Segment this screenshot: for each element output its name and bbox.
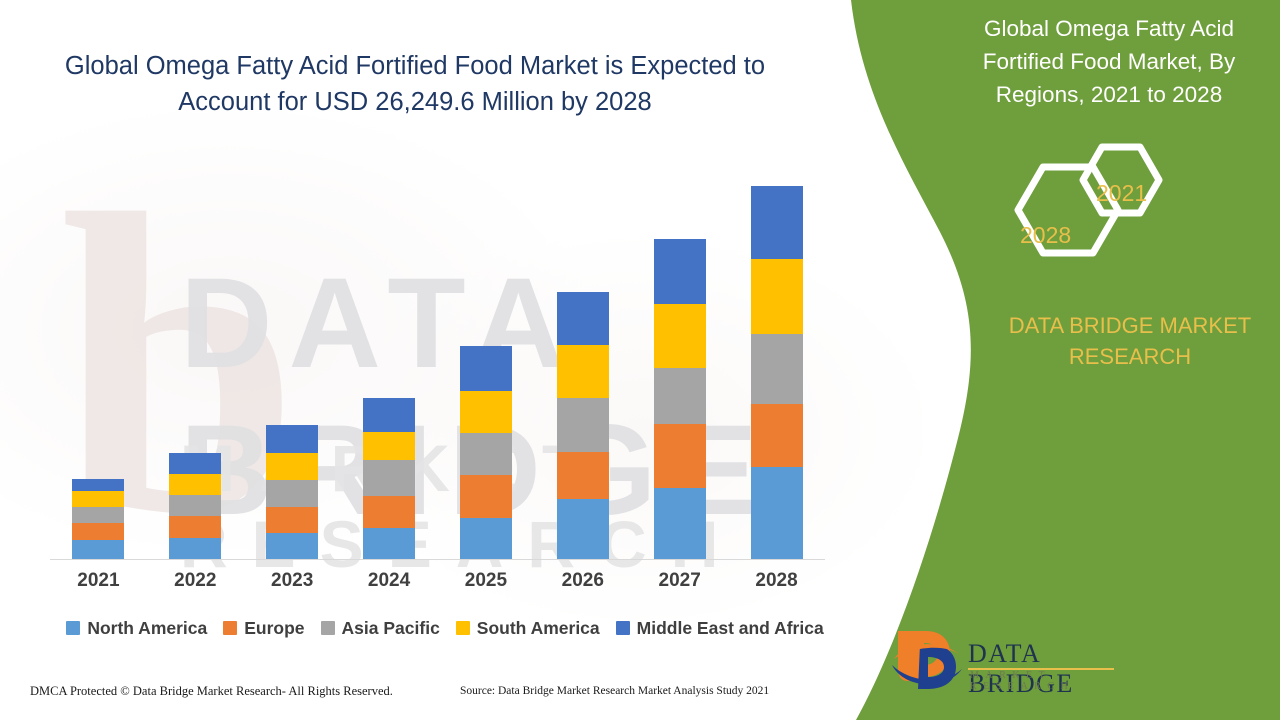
- bar-segment: [72, 479, 124, 491]
- bar-segment: [654, 239, 706, 304]
- bar-segment: [266, 533, 318, 559]
- panel-title: Global Omega Fatty Acid Fortified Food M…: [954, 12, 1264, 111]
- bar-segment: [363, 528, 415, 559]
- x-axis-label-2028: 2028: [729, 570, 825, 592]
- bar-segment: [266, 453, 318, 480]
- bar-2023: [266, 425, 318, 559]
- legend-item-asia-pacific[interactable]: Asia Pacific: [321, 618, 440, 639]
- x-axis-label-2027: 2027: [632, 570, 728, 592]
- legend-swatch-icon: [321, 621, 335, 635]
- bar-segment: [169, 474, 221, 495]
- source-note: Source: Data Bridge Market Research Mark…: [460, 685, 769, 697]
- logo-tagline: MARKET RESEARCH: [970, 670, 1140, 692]
- bar-segment: [751, 404, 803, 467]
- bar-segment: [266, 480, 318, 507]
- legend-item-middle-east-and-africa[interactable]: Middle East and Africa: [616, 618, 824, 639]
- dbmr-logo-mark: [890, 625, 965, 695]
- bar-segment: [266, 425, 318, 453]
- bar-segment: [751, 467, 803, 559]
- bar-segment: [751, 259, 803, 334]
- bar-segment: [363, 460, 415, 496]
- chart-headline: Global Omega Fatty Acid Fortified Food M…: [40, 48, 790, 120]
- bar-segment: [72, 523, 124, 540]
- bar-segment: [266, 507, 318, 533]
- bar-segment: [72, 491, 124, 507]
- footer: DMCA Protected © Data Bridge Market Rese…: [0, 675, 860, 720]
- legend-swatch-icon: [456, 621, 470, 635]
- bar-segment: [169, 538, 221, 559]
- bar-segment: [460, 475, 512, 518]
- bar-segment: [654, 368, 706, 424]
- bar-segment: [72, 507, 124, 523]
- bar-segment: [169, 453, 221, 474]
- legend-swatch-icon: [66, 621, 80, 635]
- hexagon-badges: 2021 2028: [988, 140, 1188, 290]
- bar-segment: [654, 304, 706, 368]
- chart-legend: North AmericaEuropeAsia PacificSouth Ame…: [50, 614, 840, 642]
- bar-segment: [654, 488, 706, 559]
- bar-segment: [751, 186, 803, 259]
- x-axis-label-2023: 2023: [244, 570, 340, 592]
- bar-segment: [363, 432, 415, 460]
- bar-2024: [363, 398, 415, 559]
- bar-segment: [363, 496, 415, 528]
- dbmr-logo: DATA BRIDGE MARKET RESEARCH: [890, 625, 1140, 703]
- bar-segment: [654, 424, 706, 488]
- legend-item-europe[interactable]: Europe: [223, 618, 304, 639]
- x-axis-label-2026: 2026: [535, 570, 631, 592]
- bar-2021: [72, 479, 124, 559]
- bar-segment: [557, 452, 609, 499]
- bar-segment: [363, 398, 415, 432]
- bar-segment: [460, 391, 512, 433]
- x-axis-label-2022: 2022: [147, 570, 243, 592]
- bar-segment: [751, 334, 803, 404]
- bar-segment: [460, 346, 512, 391]
- bar-2028: [751, 186, 803, 559]
- bar-segment: [460, 518, 512, 559]
- legend-label: Europe: [244, 618, 304, 639]
- x-axis-label-2025: 2025: [438, 570, 534, 592]
- bar-segment: [72, 540, 124, 559]
- axis-baseline: [50, 559, 825, 560]
- legend-item-north-america[interactable]: North America: [66, 618, 207, 639]
- bar-segment: [557, 345, 609, 398]
- brand-name: DATA BRIDGE MARKET RESEARCH: [980, 310, 1280, 372]
- legend-item-south-america[interactable]: South America: [456, 618, 600, 639]
- hexagon-2021-label: 2021: [1096, 180, 1147, 207]
- bar-segment: [557, 292, 609, 345]
- bar-segment: [557, 398, 609, 452]
- bar-segment: [169, 516, 221, 538]
- x-axis-label-2021: 2021: [50, 570, 146, 592]
- legend-swatch-icon: [616, 621, 630, 635]
- bar-2027: [654, 239, 706, 559]
- legend-label: Asia Pacific: [342, 618, 440, 639]
- bar-2025: [460, 346, 512, 559]
- legend-label: North America: [87, 618, 207, 639]
- bar-segment: [169, 495, 221, 516]
- bar-segment: [557, 499, 609, 559]
- dmca-notice: DMCA Protected © Data Bridge Market Rese…: [30, 684, 393, 699]
- bar-2022: [169, 453, 221, 559]
- legend-swatch-icon: [223, 621, 237, 635]
- legend-label: South America: [477, 618, 600, 639]
- x-axis-label-2024: 2024: [341, 570, 437, 592]
- x-axis-labels: 20212022202320242025202620272028: [50, 570, 825, 598]
- infographic-canvas: b DATA BRIDGE MARKET RESEARCH Global Ome…: [0, 0, 1280, 720]
- bar-2026: [557, 292, 609, 559]
- stacked-bar-chart: [50, 160, 825, 560]
- legend-label: Middle East and Africa: [637, 618, 824, 639]
- hexagon-2028-label: 2028: [1020, 222, 1071, 249]
- bar-segment: [460, 433, 512, 475]
